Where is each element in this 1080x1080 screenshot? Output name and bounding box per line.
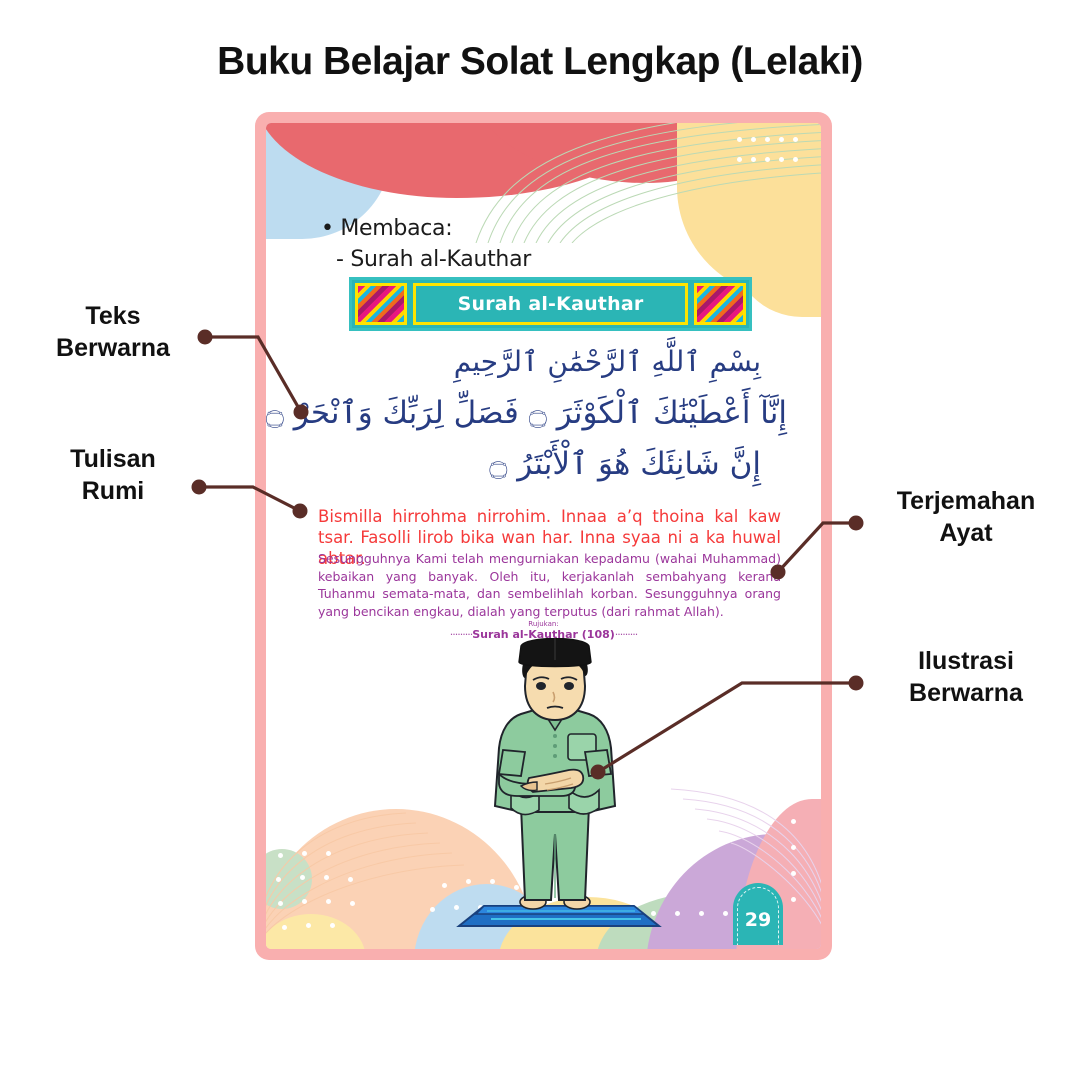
connector-dot-ilustrasi-right: [849, 676, 864, 691]
connector-ilustrasi-berwarna: [598, 683, 856, 772]
connector-dot-rumi-right: [293, 504, 308, 519]
connector-dot-rumi-left: [192, 480, 207, 495]
connector-terjemahan-ayat: [778, 523, 856, 572]
connector-dot-teks-right: [294, 405, 309, 420]
connector-dot-terjemahan-left: [771, 565, 786, 580]
connector-teks-berwarna: [205, 337, 301, 412]
connector-dot-ilustrasi-left: [591, 765, 606, 780]
connector-dot-teks-left: [198, 330, 213, 345]
connector-dot-terjemahan-right: [849, 516, 864, 531]
callout-connectors: [0, 0, 1080, 1080]
poster-root: Buku Belajar Solat Lengkap (Lelaki): [0, 0, 1080, 1080]
connector-tulisan-rumi: [199, 487, 300, 511]
